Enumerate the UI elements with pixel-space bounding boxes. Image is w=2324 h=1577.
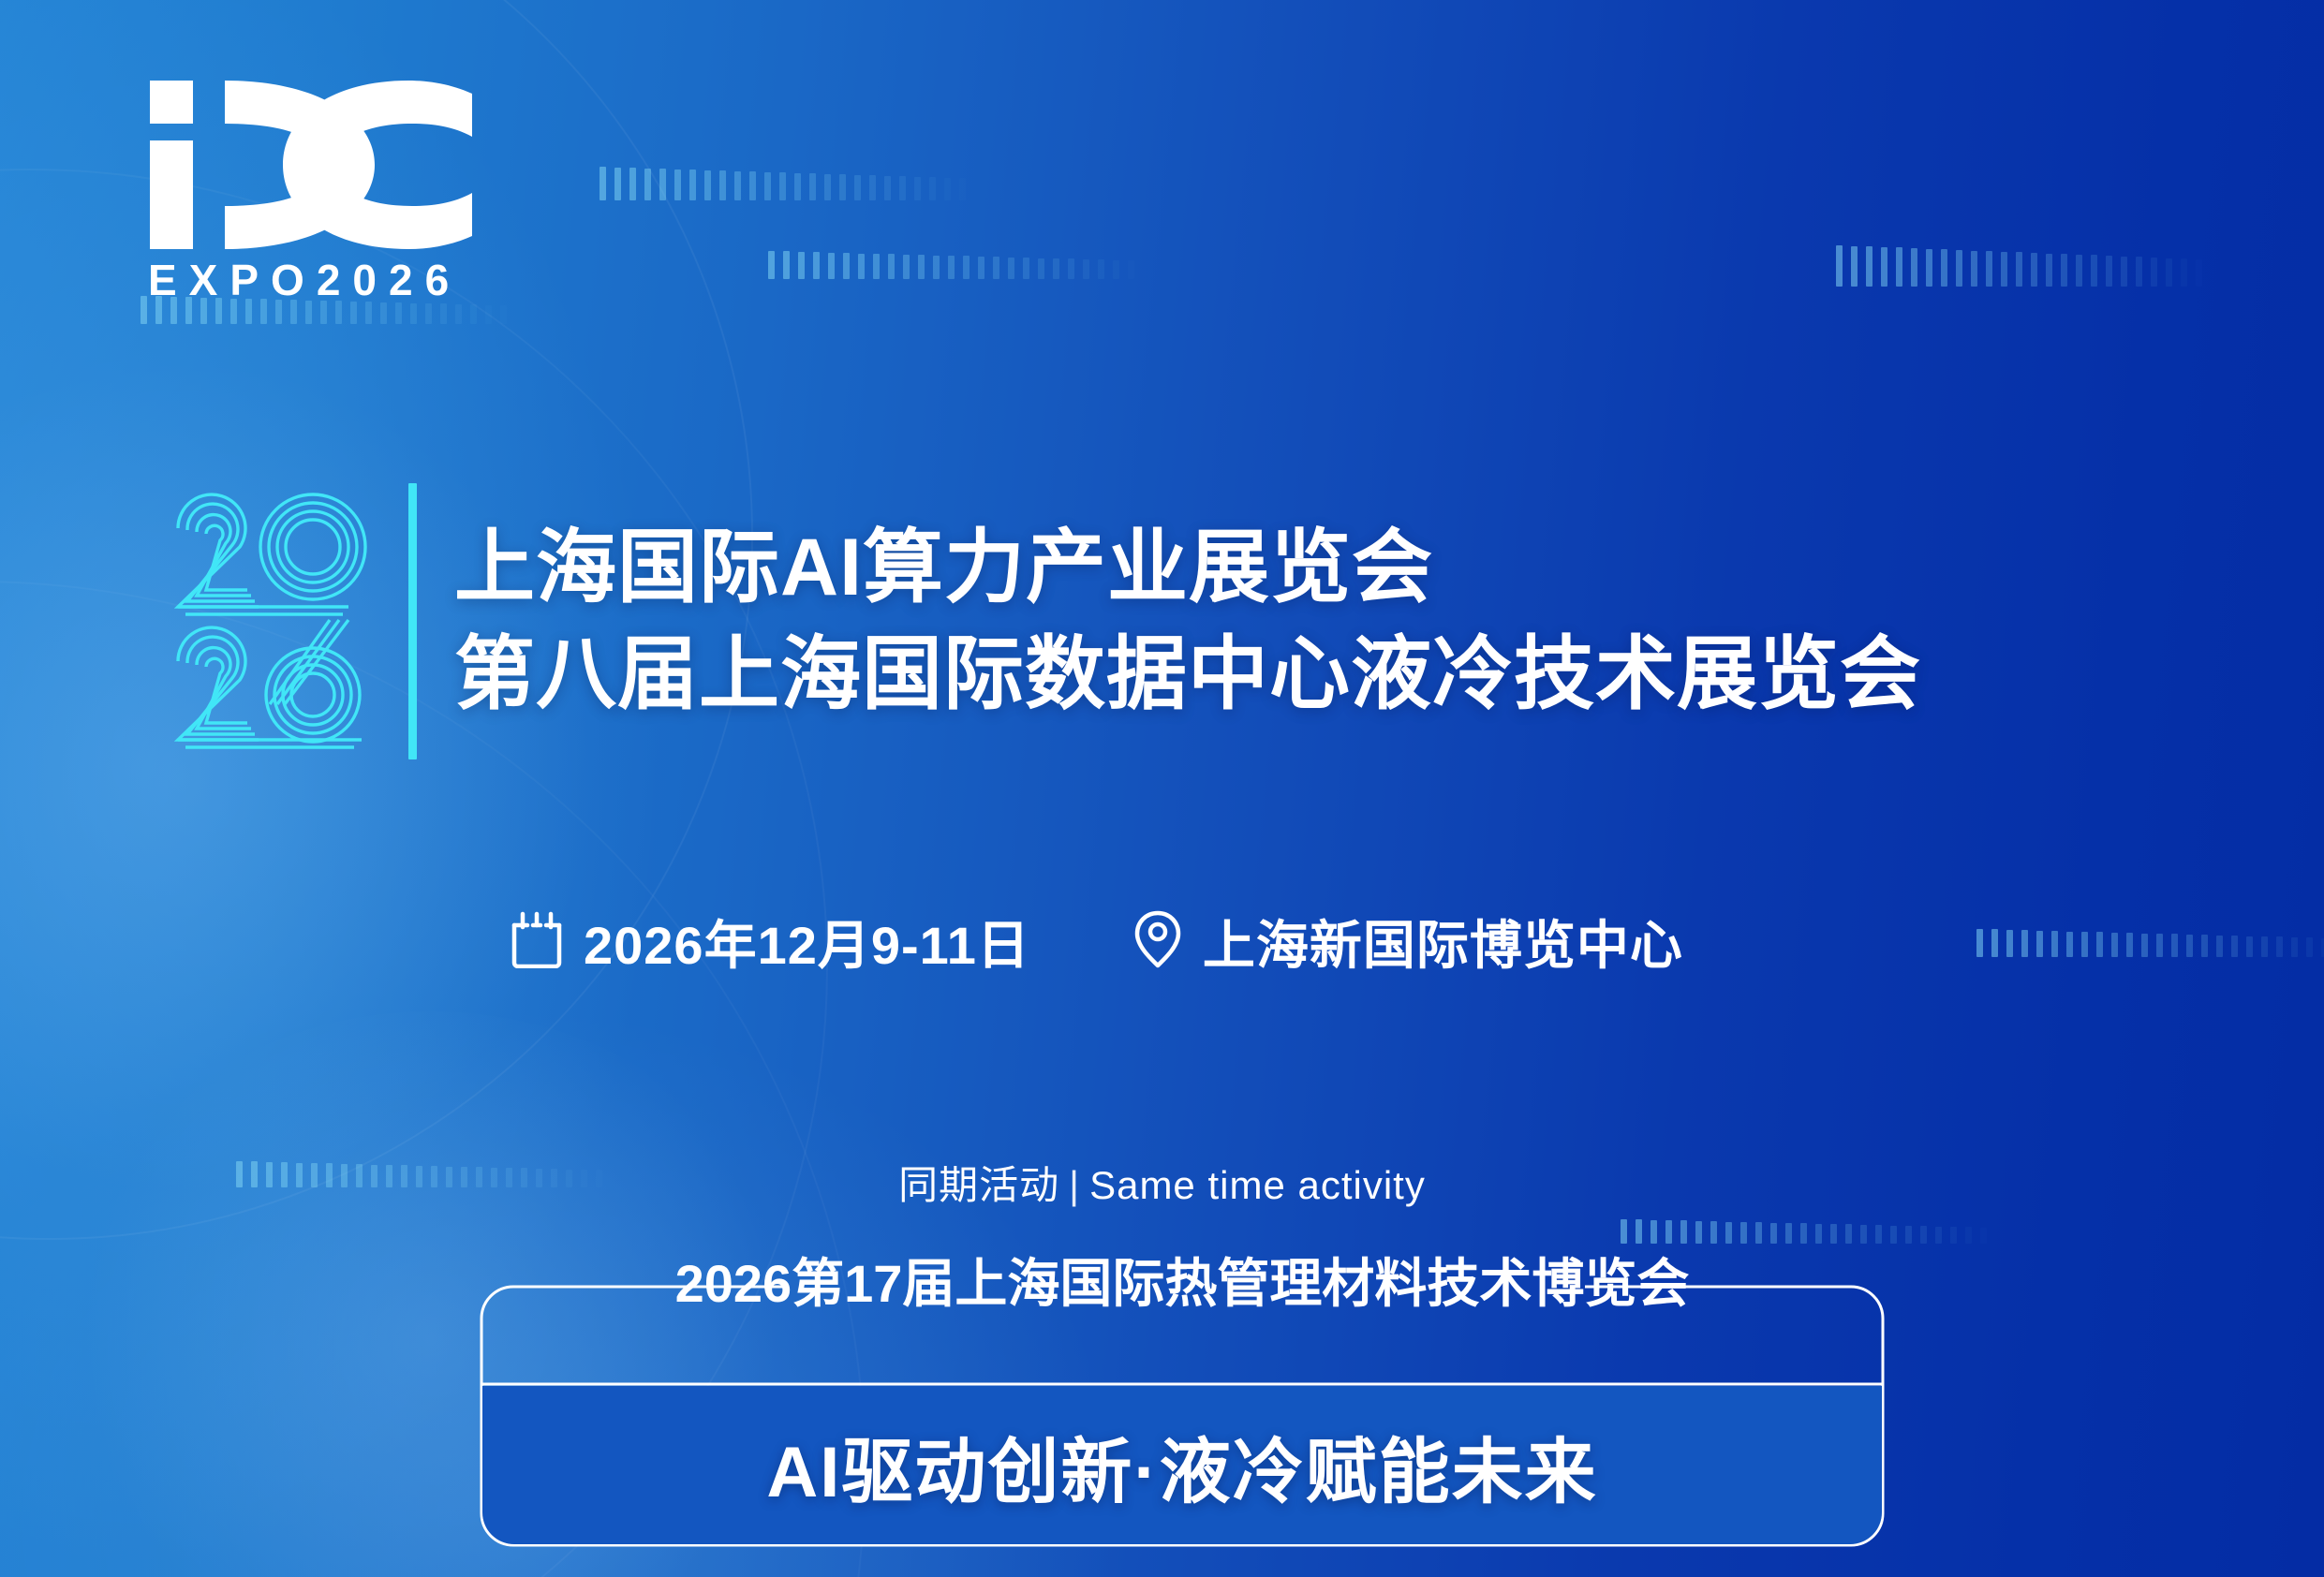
page-title-line-2: 第八届上海国际数据中心液冷技术展览会	[454, 628, 1921, 722]
calendar-icon	[511, 910, 563, 973]
headline-block: 上海国际AI算力产业展览会 第八届上海国际数据中心液冷技术展览会	[165, 483, 1921, 759]
background-glow-left	[0, 356, 600, 1199]
event-date-label: 2026年12月9-11日	[584, 904, 1030, 980]
sub-event-slogan-panel: AI驱动创新·液冷赋能未来	[482, 1386, 1882, 1544]
sub-event-box: 2026第17届上海国际热管理材料技术博览会 AI驱动创新·液冷赋能未来	[480, 1285, 1885, 1547]
event-venue: 上海新国际博览中心	[1133, 904, 1683, 980]
same-time-separator: |	[1059, 1163, 1089, 1207]
event-meta-row: 2026年12月9-11日 上海新国际博览中心	[511, 904, 1683, 980]
expo-wordmark-label: EXPO2026	[142, 258, 498, 302]
decor-ticks-1	[600, 167, 981, 200]
event-date: 2026年12月9-11日	[511, 904, 1030, 980]
year-2026-outline-mark-icon	[165, 483, 380, 759]
location-pin-icon	[1133, 909, 1182, 974]
sub-event-title: 2026第17届上海国际热管理材料技术博览会	[480, 1242, 1885, 1318]
headline-titles: 上海国际AI算力产业展览会 第八届上海国际数据中心液冷技术展览会	[454, 483, 1921, 759]
decor-ticks-2	[768, 251, 1149, 279]
decor-ticks-3	[1836, 245, 2217, 287]
sub-event-slogan: AI驱动创新·液冷赋能未来	[766, 1414, 1597, 1517]
page-title-line-1: 上海国际AI算力产业展览会	[454, 522, 1921, 615]
same-time-en-label: Same time activity	[1089, 1163, 1426, 1207]
same-time-activity: 同期活动|Same time activity	[0, 1154, 2324, 1211]
brand-logo: EXPO2026	[142, 73, 498, 302]
decor-ticks-7	[1976, 929, 2324, 957]
same-time-cn-label: 同期活动	[898, 1163, 1059, 1207]
headline-divider	[408, 483, 417, 759]
event-venue-label: 上海新国际博览中心	[1203, 904, 1683, 980]
idc-wordmark-logo-icon	[142, 73, 498, 251]
decor-ticks-6	[1621, 1219, 2002, 1244]
expo-poster: EXPO2026	[0, 0, 2324, 1577]
